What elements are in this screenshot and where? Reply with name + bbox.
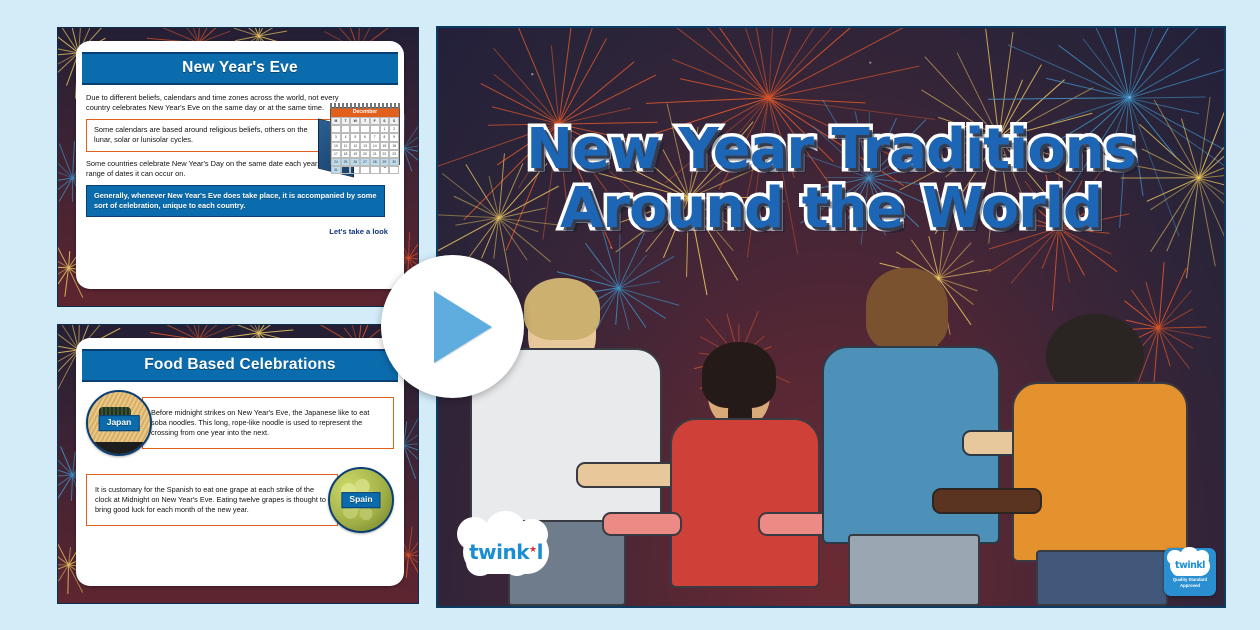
calendar-day: 15	[380, 142, 390, 150]
twinkl-wordmark: twink★l	[469, 540, 543, 564]
orange-callout-box: Some calendars are based around religiou…	[86, 119, 332, 151]
slide-thumbnail-list: New Year's Eve December MTWTFSS123456789…	[57, 27, 419, 604]
hero-title: New Year Traditions Around the World	[438, 120, 1224, 239]
calendar-day	[350, 125, 360, 133]
twinkl-word-part: twink	[469, 540, 529, 564]
calendar-day: 31	[331, 166, 341, 174]
slide-title: Food Based Celebrations	[82, 349, 398, 382]
country-label-spain: Spain	[341, 492, 380, 508]
badge-cloud-shape: twinkl	[1170, 556, 1210, 576]
lets-take-a-look-link[interactable]: Let's take a look	[86, 227, 394, 237]
calendar-day: 30	[389, 158, 399, 166]
slide-card: New Year's Eve December MTWTFSS123456789…	[76, 41, 404, 289]
slide-title: New Year's Eve	[82, 52, 398, 85]
calendar-day	[341, 166, 351, 174]
calendar-day: 7	[370, 133, 380, 141]
calendar-weekday: F	[370, 117, 380, 125]
calendar-grid: MTWTFSS123456789101112131415161718192021…	[331, 117, 399, 174]
blue-callout-box: Generally, whenever New Year's Eve does …	[86, 185, 385, 217]
calendar-weekday: W	[350, 117, 360, 125]
person-2-top	[670, 418, 820, 588]
play-button[interactable]	[381, 255, 524, 398]
calendar-day	[350, 166, 360, 174]
slide-thumbnail-food-based-celebrations[interactable]: Food Based Celebrations Japan Before mid…	[57, 324, 419, 604]
slide-paragraph-1: Due to different beliefs, calendars and …	[86, 93, 351, 113]
person-4-jeans	[1036, 550, 1168, 606]
calendar-day	[360, 166, 370, 174]
calendar-weekday: T	[341, 117, 351, 125]
person-3-trousers	[848, 534, 980, 606]
calendar-day: 3	[331, 133, 341, 141]
calendar-day	[370, 166, 380, 174]
calendar-day: 13	[360, 142, 370, 150]
calendar-image: December MTWTFSS123456789101112131415161…	[314, 101, 400, 173]
calendar-day	[380, 166, 390, 174]
play-triangle-icon	[434, 291, 492, 363]
calendar-month-label: December	[331, 108, 399, 117]
calendar-day: 4	[341, 133, 351, 141]
food-entry-text: It is customary for the Spanish to eat o…	[86, 474, 338, 526]
calendar-day: 2	[389, 125, 399, 133]
country-label-japan: Japan	[99, 415, 140, 431]
calendar-day: 18	[341, 150, 351, 158]
calendar-day	[341, 125, 351, 133]
twinkl-star-icon: ★	[529, 545, 537, 555]
person-4-shirt	[1012, 382, 1188, 562]
calendar-weekday: T	[360, 117, 370, 125]
food-entry-spain: Spain It is customary for the Spanish to…	[86, 467, 394, 533]
calendar-page: December MTWTFSS123456789101112131415161…	[330, 107, 400, 165]
food-entry-japan: Japan Before midnight strikes on New Yea…	[86, 390, 394, 456]
hero-cover-image[interactable]: New Year Traditions Around the World	[436, 26, 1226, 608]
soba-noodles-image: Japan	[86, 390, 152, 456]
calendar-weekday: S	[389, 117, 399, 125]
calendar-day	[370, 125, 380, 133]
slide-thumbnail-new-years-eve[interactable]: New Year's Eve December MTWTFSS123456789…	[57, 27, 419, 307]
calendar-day: 27	[360, 158, 370, 166]
person-4-arm	[932, 488, 1042, 514]
calendar-day: 24	[331, 158, 341, 166]
green-grapes-image: Spain	[328, 467, 394, 533]
calendar-day	[360, 125, 370, 133]
badge-line-1: Quality Standard	[1173, 577, 1207, 582]
calendar-day: 9	[389, 133, 399, 141]
calendar-day: 22	[380, 150, 390, 158]
calendar-day: 25	[341, 158, 351, 166]
person-2-sleeve-left	[602, 512, 682, 536]
calendar-day: 5	[350, 133, 360, 141]
calendar-day: 10	[331, 142, 341, 150]
quality-standard-badge: twinkl Quality Standard Approved	[1164, 548, 1216, 596]
calendar-day	[331, 125, 341, 133]
person-3-hair	[866, 268, 948, 350]
calendar-day: 1	[380, 125, 390, 133]
twinkl-word-tail: l	[537, 540, 543, 564]
person-3	[810, 276, 1010, 606]
people-illustration	[438, 276, 1224, 606]
food-entry-text: Before midnight strikes on New Year's Ev…	[142, 397, 394, 449]
calendar-day: 21	[370, 150, 380, 158]
calendar-day: 16	[389, 142, 399, 150]
calendar-spiral-binding	[330, 103, 400, 109]
calendar-weekday: S	[380, 117, 390, 125]
calendar-day: 11	[341, 142, 351, 150]
calendar-day: 12	[350, 142, 360, 150]
calendar-day: 14	[370, 142, 380, 150]
calendar-day	[389, 166, 399, 174]
calendar-day: 6	[360, 133, 370, 141]
badge-line-2: Approved	[1180, 583, 1200, 588]
cloud-shape: twink★l	[463, 530, 549, 574]
twinkl-logo: twink★l	[460, 524, 552, 580]
calendar-day: 29	[380, 158, 390, 166]
calendar-day: 26	[350, 158, 360, 166]
calendar-day: 23	[389, 150, 399, 158]
person-1-hair	[524, 278, 600, 340]
calendar-day: 17	[331, 150, 341, 158]
calendar-day: 28	[370, 158, 380, 166]
slide-body: Japan Before midnight strikes on New Yea…	[76, 382, 404, 550]
slide-body: December MTWTFSS123456789101112131415161…	[76, 85, 404, 244]
slide-card: Food Based Celebrations Japan Before mid…	[76, 338, 404, 586]
badge-wordmark: twinkl	[1175, 560, 1205, 571]
calendar-day: 8	[380, 133, 390, 141]
calendar-weekday: M	[331, 117, 341, 125]
calendar-day: 19	[350, 150, 360, 158]
calendar-day: 20	[360, 150, 370, 158]
